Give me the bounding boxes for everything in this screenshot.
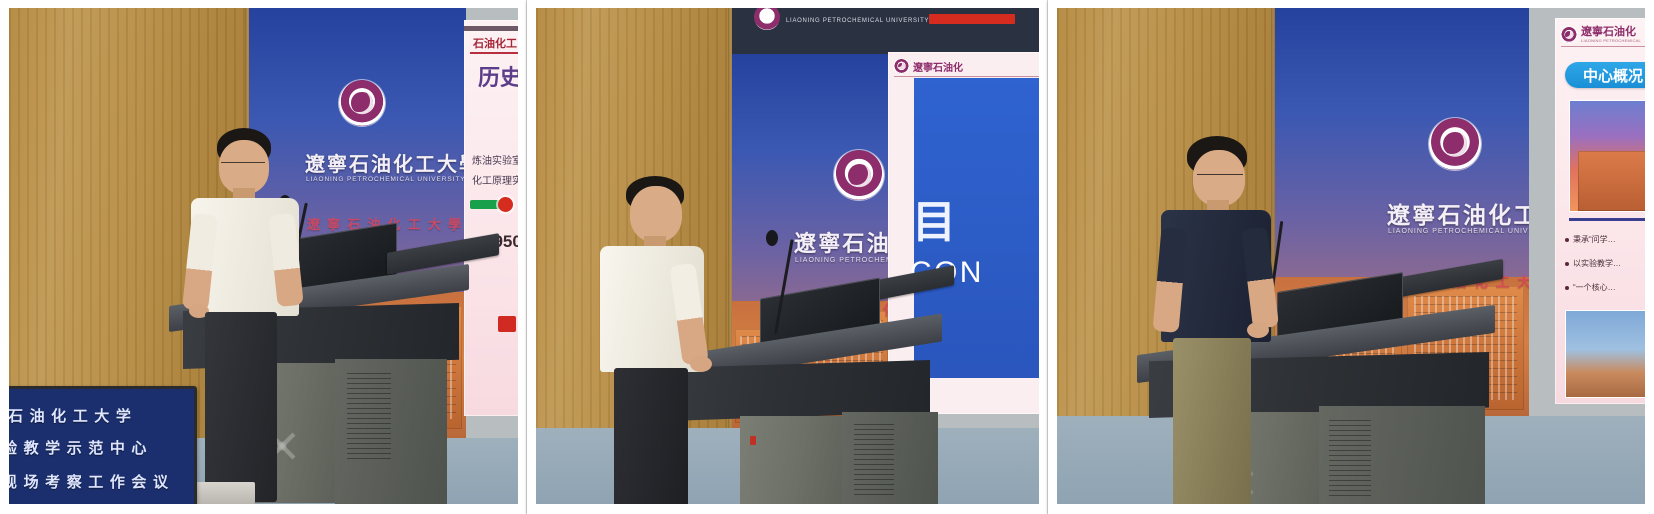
photo-3: 遼寧石油化工大學 LIAONING PETROCHEMICAL UNIVERSI… bbox=[1057, 8, 1645, 504]
university-emblem-icon bbox=[894, 59, 909, 74]
slide-bullet-text: 以实验教学… bbox=[1573, 258, 1621, 269]
university-emblem-icon bbox=[754, 8, 780, 30]
photo-frame-1: 遼寧石油化工大學 LIAONING PETROCHEMICAL UNIVERSI… bbox=[0, 0, 527, 514]
university-emblem-icon bbox=[339, 80, 385, 126]
monitor-line-2: 验 教 学 示 范 中 心 bbox=[9, 437, 148, 458]
display-header-accent bbox=[929, 14, 1015, 24]
display-header-text: LIAONING PETROCHEMICAL UNIVERSITY bbox=[786, 18, 929, 24]
head bbox=[630, 186, 682, 242]
presentation-slide-center-overview: 遼寧石油化 LIAONING PETROCHEMICAL 中心概况 秉承“问学…… bbox=[1555, 18, 1645, 404]
podium-vent-grill bbox=[1329, 420, 1371, 496]
slide-image-campus-sunset bbox=[1569, 100, 1645, 212]
slide-title: 历史 bbox=[478, 60, 518, 92]
photo-2: LIAONING PETROCHEMICAL UNIVERSITY 遼寧石油化工… bbox=[536, 8, 1039, 504]
slide-divider bbox=[1569, 218, 1645, 221]
backdrop-university-name-cn: 遼寧石油化工大學 bbox=[794, 226, 891, 258]
speaker-person-3 bbox=[1151, 136, 1321, 504]
hand bbox=[1247, 322, 1269, 338]
eyeglasses-icon bbox=[221, 162, 265, 171]
speaker-person-2 bbox=[588, 176, 756, 504]
university-emblem-icon bbox=[834, 150, 884, 200]
bullet-dot-icon bbox=[1565, 238, 1569, 242]
slide-image-campus-waterfront bbox=[1565, 310, 1645, 398]
slide-tag: 石油化工 bbox=[470, 34, 518, 54]
trousers bbox=[614, 368, 688, 504]
slide-logo-row: 遼寧石油化 LIAONING PETROCHEMICAL bbox=[1561, 24, 1645, 47]
timeline-marker-icon bbox=[498, 197, 513, 212]
slide-bullet-3: “一个核心… bbox=[1565, 282, 1616, 293]
slide-line-2: 化工原理实 bbox=[472, 172, 518, 187]
slide-bullet-text: “一个核心… bbox=[1573, 282, 1616, 293]
backdrop-university-name-cn: 遼寧石油化工大學 bbox=[305, 148, 466, 177]
photo-collage: 遼寧石油化工大學 LIAONING PETROCHEMICAL UNIVERSI… bbox=[0, 0, 1654, 514]
slide-bullet-1: 秉承“问学… bbox=[1565, 234, 1616, 245]
podium-vent-grill bbox=[347, 373, 391, 459]
podium-vent-grill bbox=[854, 424, 894, 498]
hand-with-pointer bbox=[690, 356, 712, 372]
microphone-head-icon bbox=[766, 230, 778, 246]
bullet-dot-icon bbox=[1565, 262, 1569, 266]
slide-logo-text-cn: 遼寧石油化 bbox=[913, 59, 963, 74]
university-emblem-icon bbox=[1429, 118, 1481, 170]
photo-frame-2: LIAONING PETROCHEMICAL UNIVERSITY 遼寧石油化工… bbox=[527, 0, 1048, 514]
trousers bbox=[205, 312, 277, 502]
display-header-band: LIAONING PETROCHEMICAL UNIVERSITY bbox=[732, 8, 1039, 54]
bullet-dot-icon bbox=[1565, 286, 1569, 290]
contents-glyph: 目 bbox=[912, 186, 956, 250]
monitor-line-1: 石 油 化 工 大 学 bbox=[9, 405, 132, 426]
backdrop-university-name-en: LIAONING PETROCHEMICAL UNIVERSITY bbox=[1388, 228, 1529, 235]
slide-line-1: 炼油实验室 bbox=[472, 152, 518, 167]
slide-red-chip bbox=[498, 316, 516, 332]
slide-logo-text-cn: 遼寧石油化 bbox=[1581, 27, 1641, 39]
slide-logo-text-en: LIAONING PETROCHEMICAL bbox=[1581, 39, 1641, 43]
confidence-monitor: 石 油 化 工 大 学 验 教 学 示 范 中 心 现 场 考 察 工 作 会 … bbox=[9, 386, 197, 504]
slide-section-pill: 中心概况 bbox=[1565, 62, 1645, 88]
slide-bullet-text: 秉承“问学… bbox=[1573, 234, 1616, 245]
monitor-line-3: 现 场 考 察 工 作 会 议 bbox=[9, 471, 169, 492]
backdrop-university-name-en: LIAONING PETROCHEMICAL UNIVERSITY bbox=[795, 257, 891, 264]
university-emblem-icon bbox=[1561, 27, 1577, 43]
slide-header-bar bbox=[464, 26, 518, 31]
photo-frame-3: 遼寧石油化工大學 LIAONING PETROCHEMICAL UNIVERSI… bbox=[1048, 0, 1654, 514]
photo-1: 遼寧石油化工大學 LIAONING PETROCHEMICAL UNIVERSI… bbox=[9, 8, 518, 504]
eyeglasses-icon bbox=[1197, 174, 1243, 183]
slide-bullet-2: 以实验教学… bbox=[1565, 258, 1621, 269]
trousers bbox=[1173, 338, 1251, 504]
backdrop-university-name-cn: 遼寧石油化工大學 bbox=[1387, 196, 1529, 230]
slide-logo-row: 遼寧石油化 bbox=[894, 56, 1039, 77]
backdrop-university-name-en: LIAONING PETROCHEMICAL UNIVERSITY bbox=[306, 176, 465, 183]
